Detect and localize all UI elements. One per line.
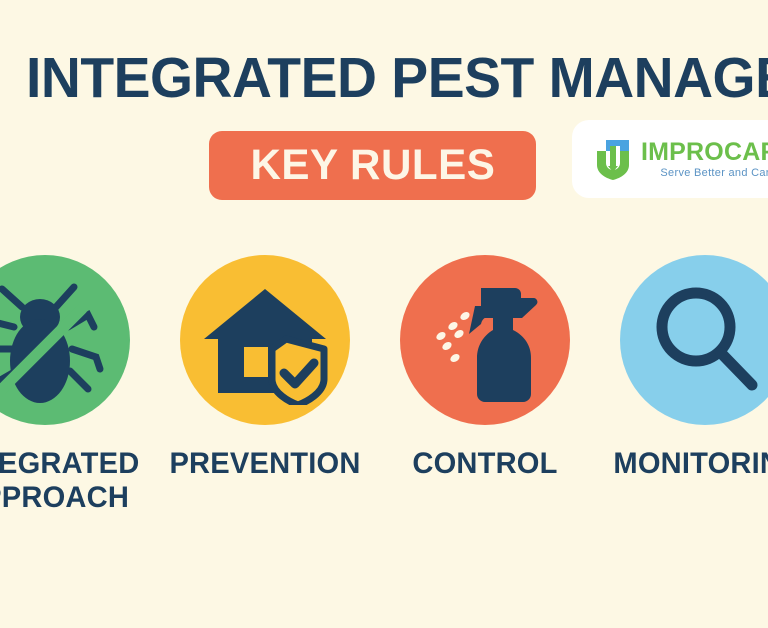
brand-logo-text: IMPROCARE Serve Better and Care [641,139,768,180]
pillar-label: MONITORING [610,447,768,481]
page-title: INTEGRATED PEST MANAGEMENT [26,48,724,108]
bug-no-entry-icon [0,265,120,415]
spray-bottle-icon [415,270,555,410]
brand-logo-card: IMPROCARE Serve Better and Care [572,120,768,198]
key-rules-badge: KEY RULES [209,131,536,200]
pillar-label: INTEGRATED APPROACH [0,447,157,515]
house-shield-check-icon [200,275,330,405]
shield-logo-icon [594,138,632,180]
key-rules-badge-label: KEY RULES [250,144,495,187]
pillar-prevention[interactable]: PREVENTION [180,255,350,481]
pillar-icon-circle [620,255,768,425]
pillar-icon-circle [0,255,130,425]
pillar-control[interactable]: CONTROL [400,255,570,481]
pillar-integrated-approach[interactable]: INTEGRATED APPROACH [0,255,130,515]
pillar-label: PREVENTION [168,447,362,481]
brand-name: IMPROCARE [641,139,768,165]
magnifying-glass-icon [640,275,768,405]
infographic-canvas: INTEGRATED PEST MANAGEMENT KEY RULES IMP… [0,0,768,628]
brand-tagline: Serve Better and Care [641,166,768,180]
pillar-monitoring[interactable]: MONITORING [620,255,768,481]
pillar-icon-circle [180,255,350,425]
pillar-label: CONTROL [388,447,582,481]
pillar-icon-circle [400,255,570,425]
